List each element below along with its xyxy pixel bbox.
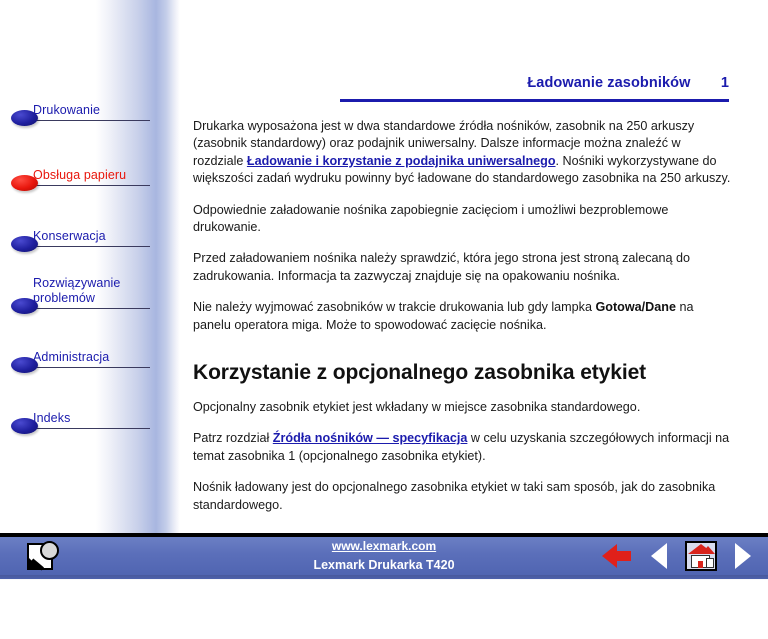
- sidebar-item-rule: [28, 185, 150, 186]
- paragraph-intro: Drukarka wyposażona jest w dwa standardo…: [193, 118, 733, 188]
- paragraph-label-tray-replaces-standard: Opcjonalny zasobnik etykiet jest wkładan…: [193, 399, 733, 416]
- page-header: Ładowanie zasobników 1: [340, 74, 729, 92]
- bullet-icon: [11, 236, 38, 252]
- indicator-label-gotowa-dane: Gotowa/Dane: [595, 300, 675, 314]
- document-content: Drukarka wyposażona jest w dwa standardo…: [193, 118, 733, 514]
- bullet-icon: [11, 298, 38, 314]
- back-button[interactable]: [600, 539, 634, 573]
- paragraph-check-print-side: Przed załadowaniem nośnika należy sprawd…: [193, 250, 733, 285]
- paragraph-text: Nie należy wyjmować zasobników w trakcie…: [193, 300, 595, 314]
- back-arrow-icon: [602, 543, 632, 569]
- bullet-icon: [11, 418, 38, 434]
- search-button[interactable]: [24, 539, 64, 575]
- sidebar-item-rule: [28, 120, 150, 121]
- previous-page-button[interactable]: [642, 539, 676, 573]
- sidebar-navigation: Drukowanie Obsługa papieru Konserwacja R…: [0, 0, 180, 533]
- paragraph-text: Patrz rozdział: [193, 431, 273, 445]
- cross-reference-link-zrodla-nosnikow[interactable]: Źródła nośników — specyfikacja: [273, 431, 468, 445]
- sidebar-item-label: Drukowanie: [33, 103, 100, 118]
- sidebar-item-label: Indeks: [33, 411, 70, 426]
- footer-toolbar: www.lexmark.com Lexmark Drukarka T420: [0, 533, 768, 579]
- paragraph-see-media-sources: Patrz rozdział Źródła nośników — specyfi…: [193, 430, 733, 465]
- cross-reference-link-podajnik[interactable]: Ładowanie i korzystanie z podajnika uniw…: [247, 154, 556, 168]
- next-page-button[interactable]: [726, 539, 760, 573]
- paragraph-loading-prevents-jams: Odpowiednie załadowanie nośnika zapobieg…: [193, 202, 733, 237]
- bullet-icon: [11, 110, 38, 126]
- sidebar-item-label: Konserwacja: [33, 229, 106, 244]
- sidebar-item-label: Administracja: [33, 350, 109, 365]
- home-button[interactable]: [684, 539, 718, 573]
- page-number: 1: [721, 75, 729, 91]
- sidebar-item-rule: [28, 367, 150, 368]
- page-title: Ładowanie zasobników: [527, 75, 690, 91]
- sidebar-item-rule: [28, 308, 150, 309]
- lexmark-website-link[interactable]: www.lexmark.com: [332, 539, 436, 553]
- sidebar-item-rule: [28, 246, 150, 247]
- footer-shadow: [0, 575, 768, 580]
- section-heading: Korzystanie z opcjonalnego zasobnika ety…: [193, 360, 733, 385]
- header-divider: [340, 99, 729, 102]
- document-page: Drukowanie Obsługa papieru Konserwacja R…: [0, 0, 768, 639]
- bullet-icon: [11, 175, 38, 191]
- sidebar-item-rule: [28, 428, 150, 429]
- paragraph-do-not-remove-trays: Nie należy wyjmować zasobników w trakcie…: [193, 299, 733, 334]
- footer-navigation: [600, 537, 760, 575]
- sidebar-item-label: Rozwiązywanie problemów: [33, 276, 120, 306]
- home-house-icon: [685, 541, 717, 571]
- previous-page-icon: [651, 543, 667, 569]
- bullet-icon: [11, 357, 38, 373]
- sidebar-item-label: Obsługa papieru: [33, 168, 126, 183]
- next-page-icon: [735, 543, 751, 569]
- paragraph-load-same-way: Nośnik ładowany jest do opcjonalnego zas…: [193, 479, 733, 514]
- magnifier-lens-icon: [40, 541, 59, 560]
